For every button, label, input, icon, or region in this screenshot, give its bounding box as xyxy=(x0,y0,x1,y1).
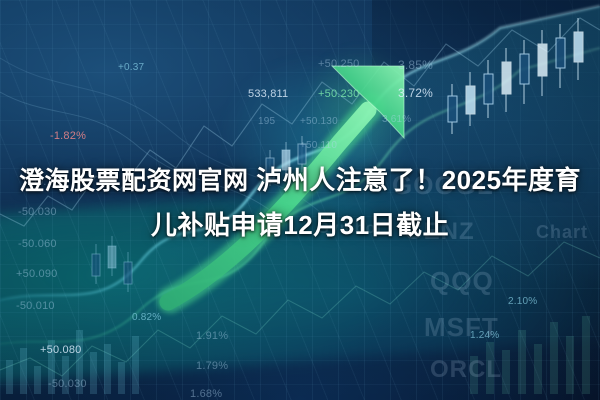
floating-number: 0.82% xyxy=(132,312,161,323)
headline-line-1-rest: 泸州人注意了！2025年度育 xyxy=(248,165,581,195)
headline-line-1: 澄海股票配资网官网 泸州人注意了！2025年度育 xyxy=(8,158,592,203)
floating-number: -50.030 xyxy=(48,378,87,390)
floating-number: 3.72% xyxy=(398,86,433,100)
floating-number: +50.250 xyxy=(318,58,359,70)
floating-number: +0.37 xyxy=(118,62,144,73)
floating-number: +50.090 xyxy=(16,268,57,280)
floating-number: 1.79% xyxy=(196,360,228,372)
ticker-symbol: ORCL xyxy=(430,356,502,384)
floating-number: -50.010 xyxy=(16,300,55,312)
headline-text: 澄海股票配资网官网 泸州人注意了！2025年度育 儿补贴申请12月31日截止 xyxy=(8,158,592,247)
floating-number: 195 xyxy=(258,116,275,127)
site-name: 澄海股票配资网官网 xyxy=(19,167,249,195)
floating-number: 3.61% xyxy=(382,114,411,125)
floating-number: 1.68% xyxy=(190,388,222,400)
ticker-symbol: MSFT xyxy=(424,312,499,343)
stock-market-banner-image: 533,811+50.2303.72%3.85%+50.250195+50.13… xyxy=(0,0,600,400)
headline-line-2: 儿补贴申请12月31日截止 xyxy=(8,203,592,247)
floating-number: +50.110 xyxy=(300,140,337,151)
floating-number: 3.85% xyxy=(398,58,433,72)
ticker-symbol: QQQ xyxy=(430,266,494,297)
floating-number: -1.82% xyxy=(50,130,86,142)
floating-number: +50.080 xyxy=(40,344,81,356)
floating-number: +50.130 xyxy=(300,116,338,127)
floating-number: +50.230 xyxy=(318,88,359,100)
floating-number: 2.10% xyxy=(508,296,537,307)
floating-number: 1.91% xyxy=(196,330,228,342)
floating-number: 533,811 xyxy=(248,88,288,100)
